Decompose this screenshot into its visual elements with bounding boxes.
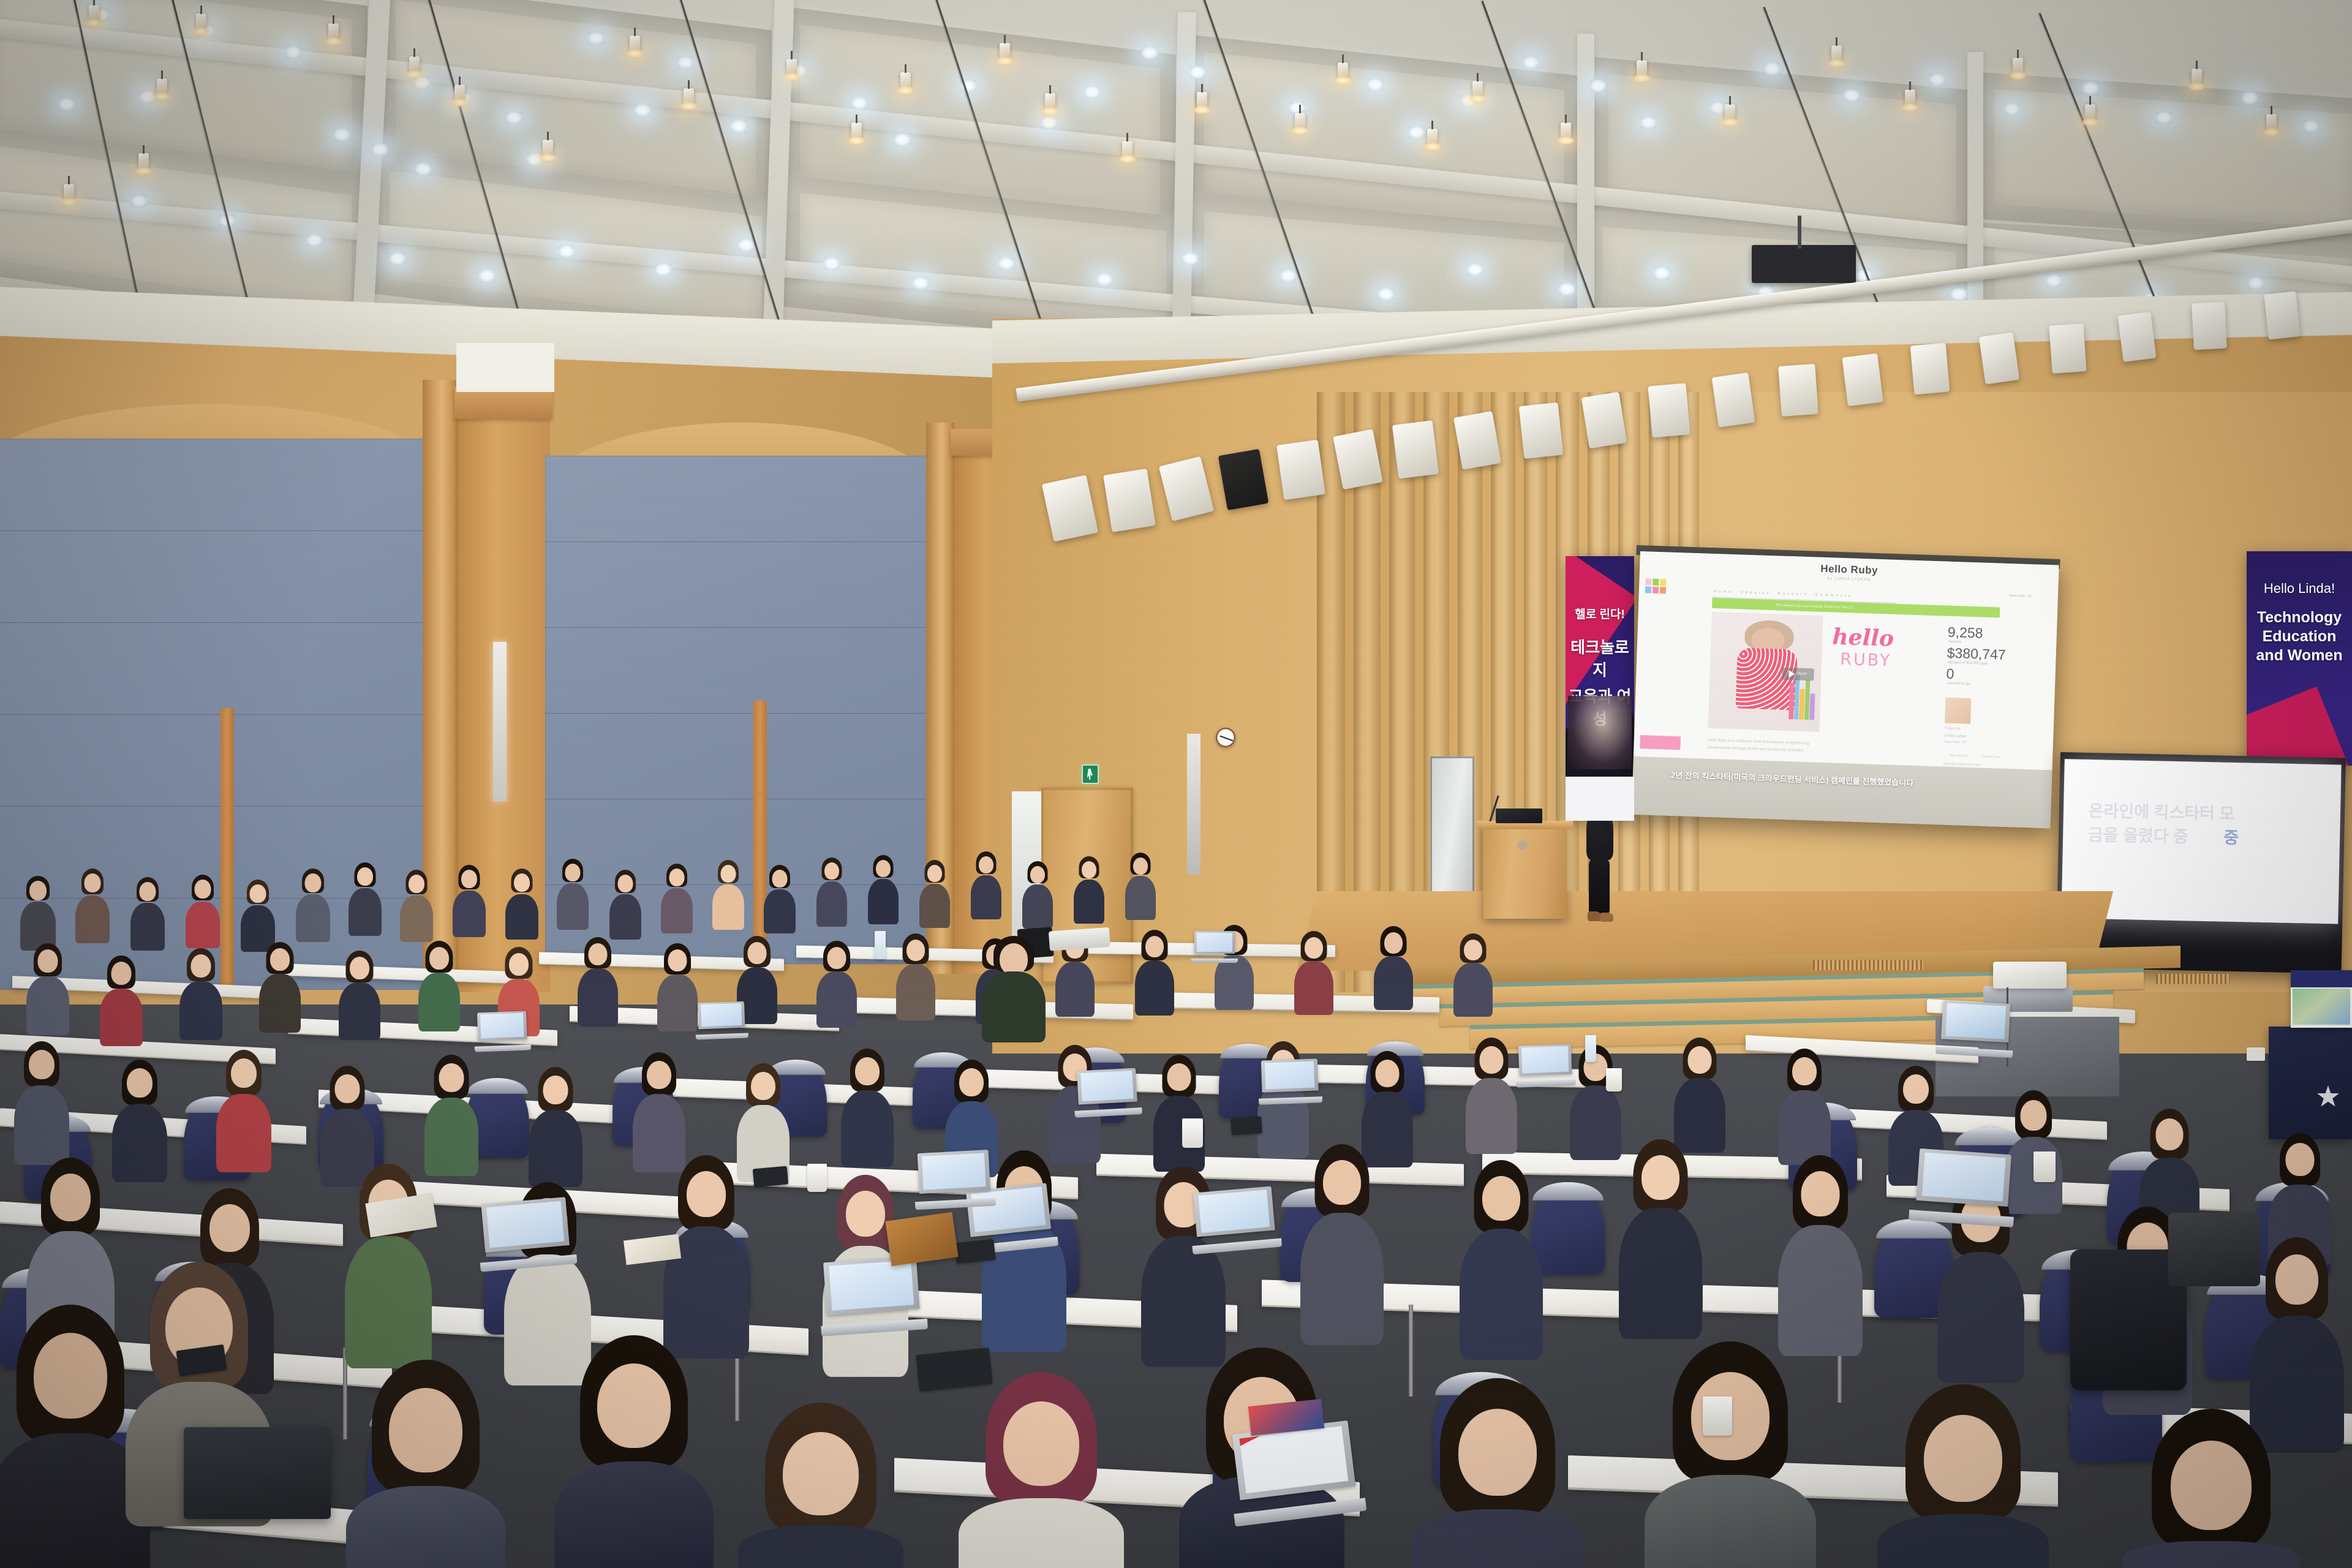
audience-person (417, 941, 462, 1031)
speaker-boot (1588, 911, 1601, 921)
water-bottle[interactable] (875, 931, 886, 959)
audience-person (710, 860, 746, 929)
truss-fixture (1712, 372, 1755, 428)
project-by-label: Project by (1944, 726, 1961, 733)
ceiling-projector (1752, 245, 1856, 283)
track-spotlight (1197, 92, 1207, 110)
track-spotlight (684, 88, 694, 107)
audience-person (1151, 1055, 1207, 1170)
truss-fixture (1392, 420, 1439, 478)
banner-right-line3: Education (2247, 628, 2352, 646)
truss-fixture (1581, 392, 1627, 449)
audience-person (1020, 861, 1055, 926)
slide-location-label: New York, NY (2010, 594, 2032, 598)
audience-person (576, 937, 620, 1027)
banner-left-line1: 헬로 린다! (1566, 605, 1634, 622)
audience-person (555, 859, 590, 929)
laptop[interactable] (1194, 931, 1235, 963)
audience-person (608, 870, 643, 938)
stat-seconds-value: 0 (1946, 666, 1954, 682)
audience-person (655, 943, 699, 1031)
audience-person-foreground (735, 1403, 907, 1568)
truss-fixture (1648, 383, 1690, 437)
truss-fixture (2118, 312, 2157, 362)
audience-person-foreground (1642, 1341, 1819, 1568)
audience-person-foreground (956, 1372, 1127, 1568)
audience-person (894, 933, 937, 1020)
speaker-boot (1600, 913, 1613, 922)
smartphone[interactable] (753, 1166, 788, 1188)
track-spotlight (2192, 69, 2202, 87)
track-spotlight (328, 23, 339, 42)
banner-right-line2: Technology (2247, 609, 2352, 627)
audience-person (631, 1052, 687, 1171)
kickstarter-slide: Hello Ruby by LINDA LIUKAS New York, NY … (1634, 551, 2059, 771)
project-link-contact[interactable]: Contact me (1981, 754, 2000, 761)
handbag (184, 1427, 331, 1519)
conference-hall-photo: 헬로 린다! 테크놀로지 교육과 여성 Hello Linda! Technol… (0, 0, 2352, 1568)
track-spotlight (157, 78, 167, 97)
truss-fixture (2049, 323, 2086, 374)
audience-person (659, 864, 695, 932)
track-spotlight (1045, 93, 1055, 111)
track-spotlight (1000, 43, 1010, 61)
laptop[interactable] (918, 1150, 992, 1210)
emergency-exit-sign (1082, 764, 1099, 784)
wall-light-slot-2 (1187, 734, 1200, 875)
laptop[interactable] (1232, 1420, 1359, 1526)
track-spotlight (64, 184, 74, 202)
audience-person (1292, 931, 1335, 1014)
audience-person (398, 870, 435, 941)
laptop[interactable] (1915, 1148, 2011, 1227)
audience-person (969, 851, 1003, 918)
coffee-cup[interactable] (2034, 1151, 2056, 1182)
lectern (1483, 826, 1567, 919)
laptop[interactable] (823, 1256, 921, 1336)
track-spotlight (900, 72, 911, 91)
laptop[interactable] (698, 1001, 745, 1040)
audience-person (451, 865, 488, 936)
audience-person (178, 948, 224, 1040)
audience-person (815, 858, 849, 925)
hero-block-word: RUBY (1840, 650, 1892, 671)
track-spotlight (1561, 123, 1571, 141)
banner-left-footer (1566, 777, 1634, 821)
registration-table (2269, 1027, 2352, 1139)
audience-person (839, 1049, 895, 1166)
track-spotlight (454, 85, 465, 103)
audience-person (12, 1041, 71, 1164)
play-label: PLAY (1798, 673, 1807, 676)
audience-person (1776, 1155, 1864, 1352)
audience-person (1617, 1139, 1704, 1335)
truss-fixture (1276, 440, 1325, 500)
track-spotlight (1472, 81, 1483, 99)
banner-right-english: Hello Linda! Technology Education and Wo… (2247, 551, 2352, 766)
audience-person (423, 1055, 480, 1175)
audience-person (98, 956, 145, 1046)
audience-person (1298, 1144, 1385, 1341)
secondary-screen-line1: 온라인에 킥스타터 모 (2088, 797, 2234, 824)
audience-person (347, 862, 383, 935)
track-spotlight (2085, 104, 2095, 123)
audience-person (24, 943, 71, 1035)
stat-pledged-label: pledged of $10,000 goal (1948, 661, 1988, 666)
smartphone[interactable] (954, 1239, 995, 1264)
wall-clock (1216, 728, 1235, 747)
hero-script-word: hello (1832, 624, 1894, 651)
coffee-cup[interactable] (1606, 1068, 1622, 1091)
smartphone[interactable] (1231, 1116, 1262, 1135)
audience-person (73, 869, 111, 942)
project-link-bio[interactable]: See full bio (1950, 753, 1968, 759)
laptop[interactable] (1940, 1000, 2010, 1058)
track-spotlight (1122, 141, 1133, 159)
audience-person-foreground (551, 1335, 717, 1568)
coffee-cup[interactable] (807, 1164, 827, 1192)
speaker-legs (1589, 858, 1610, 914)
banner-left-korean: 헬로 린다! 테크놀로지 교육과 여성 (1566, 556, 1634, 821)
audience-person (1672, 1038, 1727, 1150)
banner-left-line2: 테크놀로지 (1566, 635, 1634, 680)
kickstarter-logo (1645, 578, 1667, 594)
track-spotlight (1338, 62, 1348, 81)
track-spotlight (196, 13, 206, 32)
stat-backers-value: 9,258 (1947, 624, 1983, 642)
audience-person-foreground (1874, 1384, 2052, 1568)
track-spotlight (89, 5, 99, 23)
coffee-cup[interactable] (1703, 1396, 1732, 1436)
campaign-description-line2: fundamentals through stories and kid-fri… (1707, 745, 1804, 754)
project-creator-avatar (1945, 698, 1971, 724)
lectern-emblem (1518, 840, 1528, 850)
projector (1993, 962, 2067, 989)
audience-person (129, 877, 167, 949)
laptop[interactable] (477, 1011, 527, 1052)
audience-person (1464, 1038, 1519, 1151)
audience-person (110, 1060, 169, 1181)
track-spotlight (1831, 45, 1842, 64)
track-spotlight (1905, 89, 1915, 108)
audience-person (1452, 933, 1494, 1016)
audience-person (815, 941, 859, 1028)
laptop[interactable] (1518, 1044, 1572, 1088)
audience-person (1072, 856, 1106, 921)
main-projection-screen: Hello Ruby by LINDA LIUKAS New York, NY … (1632, 551, 2059, 828)
secondary-screen-line2: 금을 올렸다 중 (2087, 821, 2188, 847)
laptop[interactable] (1261, 1058, 1319, 1104)
photographer (980, 936, 1047, 1040)
track-spotlight (138, 153, 149, 171)
audience-person-foreground (1409, 1378, 1586, 1568)
track-spotlight (409, 56, 420, 75)
audience-person (1458, 1160, 1545, 1356)
wall-outlet[interactable] (2247, 1047, 2265, 1061)
truss-fixture (1979, 332, 2019, 384)
audience-person (1568, 1045, 1623, 1158)
track-spotlight (1725, 104, 1735, 123)
project-author-location: New York, NY (1944, 739, 1967, 746)
audience-person-foreground (2119, 1409, 2303, 1568)
track-spotlight (2266, 114, 2277, 132)
play-triangle-icon (1789, 670, 1795, 677)
audience-person (337, 951, 382, 1040)
slide-caption: 2년 전의 킥스타터(미국의 크라우드펀딩 서비스) 캠페인를 진행했었습니다 (1671, 769, 1914, 788)
info-signboard (2291, 970, 2352, 1028)
audience-person (1372, 926, 1415, 1009)
track-spotlight (786, 59, 797, 77)
audience-person (18, 876, 58, 949)
truss-fixture (1103, 469, 1156, 532)
water-bottle[interactable] (1585, 1035, 1596, 1062)
audience-person (762, 865, 797, 932)
ceiling-pocket-left (456, 343, 554, 392)
track-spotlight (1295, 113, 1305, 131)
play-video-button[interactable]: PLAY (1782, 668, 1814, 681)
audience-person (503, 869, 540, 938)
audience-person (1133, 930, 1176, 1016)
truss-fixture (2264, 291, 2300, 339)
notebook (885, 1212, 958, 1267)
truss-fixture (1778, 364, 1819, 417)
truss-fixture (1519, 402, 1564, 459)
stage-vent-grille (2156, 974, 2229, 984)
lectern-laptop (1496, 809, 1542, 823)
track-spotlight (1637, 60, 1647, 78)
truss-fixture (1842, 353, 1883, 406)
column-light-slot-1 (493, 642, 507, 801)
stat-backers-label: backers (1948, 640, 1961, 644)
audience-person (343, 1164, 434, 1365)
audience-person (214, 1050, 273, 1171)
track-spotlight (543, 140, 553, 158)
star-emblem-icon (2316, 1085, 2340, 1110)
projector-mount-pole (1798, 216, 1801, 249)
audience-person (257, 942, 303, 1033)
truss-fixture (2192, 302, 2227, 350)
banner-left-portrait (1568, 696, 1632, 769)
track-spotlight (851, 123, 862, 141)
handbag (2168, 1213, 2260, 1286)
audience-person (1123, 853, 1158, 918)
audience-person-foreground (343, 1360, 508, 1568)
track-spotlight (630, 36, 640, 54)
stage-side-door[interactable] (1430, 756, 1474, 913)
tablet[interactable] (916, 1347, 993, 1392)
audience-person (184, 875, 222, 947)
coffee-cup[interactable] (1182, 1118, 1203, 1148)
audience-person (918, 860, 952, 926)
truss-fixture (1910, 343, 1950, 395)
campaign-badge (1640, 735, 1681, 750)
laptop[interactable] (1193, 1186, 1276, 1254)
audience-person (294, 869, 332, 941)
funded-notice-text: This project was successfully funded on … (1775, 603, 1853, 609)
laptop[interactable] (481, 1197, 571, 1272)
audience-person (239, 880, 277, 951)
secondary-screen-highlight: 중 (2223, 824, 2239, 849)
audience-person (527, 1067, 584, 1186)
banner-right-line1: Hello Linda! (2247, 581, 2352, 597)
track-spotlight (2013, 58, 2023, 76)
stat-seconds-label: seconds to go (1947, 682, 1970, 686)
banner-right-line4: and Women (2247, 647, 2352, 665)
audience-person (866, 855, 900, 922)
laptop[interactable] (1077, 1068, 1138, 1118)
stage-vent-grille (1813, 960, 1923, 970)
track-spotlight (1427, 129, 1438, 147)
audience-person (1776, 1049, 1833, 1163)
